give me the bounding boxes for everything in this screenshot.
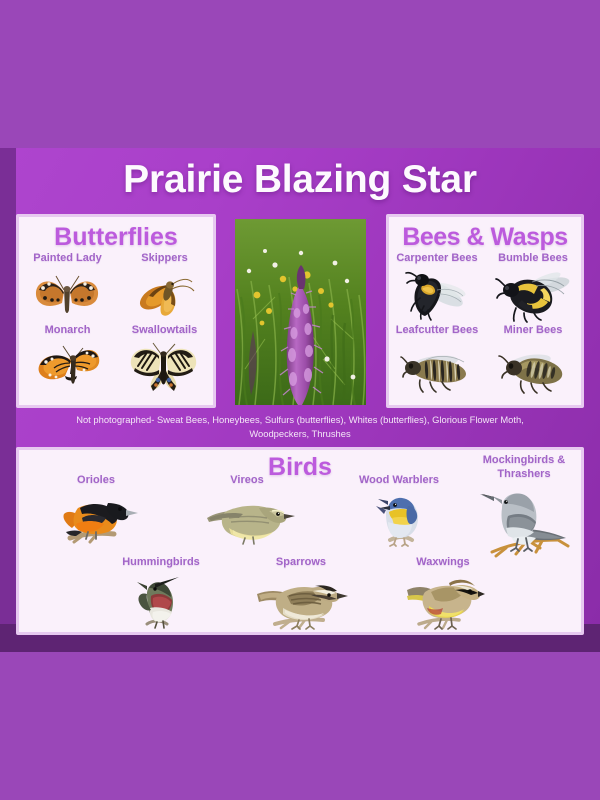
bees-species-grid: Carpenter Bees bbox=[389, 252, 581, 396]
species-label: Monarch bbox=[45, 324, 91, 338]
not-photographed-caption: Not photographed- Sweat Bees, Honeybees,… bbox=[18, 413, 582, 440]
poster-root: Prairie Blazing Star Butterflies Painted… bbox=[0, 0, 600, 800]
bird-sparrows: Sparrows bbox=[241, 556, 361, 632]
bird-label: Vireos bbox=[187, 474, 307, 488]
bird-waxwings: Waxwings bbox=[385, 556, 501, 632]
bird-label: Mockingbirds & Thrashers bbox=[465, 454, 583, 482]
panel-butterflies: Butterflies Painted Lady bbox=[16, 214, 216, 408]
species-label: Bumble Bees bbox=[498, 252, 568, 266]
species-miner-bees: Miner Bees bbox=[485, 324, 581, 396]
species-swallowtails: Swallowtails bbox=[116, 324, 213, 396]
bird-orioles: Orioles bbox=[41, 474, 151, 550]
caption-line-2: Woodpeckers, Thrushes bbox=[18, 427, 582, 441]
sparrow-bird-icon bbox=[241, 570, 361, 632]
monarch-butterfly-icon bbox=[29, 338, 107, 396]
bird-hummingbirds: Hummingbirds bbox=[101, 556, 221, 632]
species-label: Painted Lady bbox=[33, 252, 101, 266]
panel-birds: Birds Orioles bbox=[16, 447, 584, 635]
species-label: Carpenter Bees bbox=[396, 252, 477, 266]
species-carpenter-bees: Carpenter Bees bbox=[389, 252, 485, 324]
prairie-blazing-star-photo bbox=[235, 219, 366, 405]
skipper-butterfly-icon bbox=[130, 266, 200, 324]
caption-line-1: Not photographed- Sweat Bees, Honeybees,… bbox=[18, 413, 582, 427]
page-title: Prairie Blazing Star bbox=[0, 158, 600, 202]
bird-wood-warblers: Wood Warblers bbox=[339, 474, 459, 550]
bird-vireos: Vireos bbox=[187, 474, 307, 550]
waxwing-bird-icon bbox=[385, 570, 501, 632]
mockingbird-bird-icon bbox=[465, 482, 583, 564]
bird-label: Sparrows bbox=[241, 556, 361, 570]
species-painted-lady: Painted Lady bbox=[19, 252, 116, 324]
species-monarch: Monarch bbox=[19, 324, 116, 396]
carpenter-bee-icon bbox=[401, 266, 473, 324]
card-left-band bbox=[0, 148, 16, 652]
panel-heading-bees: Bees & Wasps bbox=[389, 223, 581, 252]
species-label: Leafcutter Bees bbox=[396, 324, 479, 338]
species-label: Skippers bbox=[141, 252, 187, 266]
species-label: Swallowtails bbox=[132, 324, 197, 338]
bird-mockingbirds-thrashers: Mockingbirds & Thrashers bbox=[465, 454, 583, 564]
wood-warbler-bird-icon bbox=[339, 488, 459, 550]
painted-lady-butterfly-icon bbox=[31, 266, 105, 324]
species-label: Miner Bees bbox=[504, 324, 563, 338]
species-leafcutter-bees: Leafcutter Bees bbox=[389, 324, 485, 396]
panel-bees-and-wasps: Bees & Wasps Carpenter Bees bbox=[386, 214, 584, 408]
bird-label: Hummingbirds bbox=[101, 556, 221, 570]
bird-label: Orioles bbox=[41, 474, 151, 488]
species-skippers: Skippers bbox=[116, 252, 213, 324]
leafcutter-bee-icon bbox=[400, 338, 474, 396]
bird-label: Wood Warblers bbox=[339, 474, 459, 488]
swallowtail-butterfly-icon bbox=[125, 338, 205, 396]
bird-label: Waxwings bbox=[385, 556, 501, 570]
bumble-bee-icon bbox=[494, 266, 572, 324]
panel-heading-butterflies: Butterflies bbox=[19, 223, 213, 252]
species-bumble-bees: Bumble Bees bbox=[485, 252, 581, 324]
butterflies-species-grid: Painted Lady bbox=[19, 252, 213, 396]
miner-bee-icon bbox=[497, 338, 569, 396]
oriole-bird-icon bbox=[41, 488, 151, 550]
vireo-bird-icon bbox=[187, 488, 307, 550]
hummingbird-bird-icon bbox=[101, 570, 221, 632]
